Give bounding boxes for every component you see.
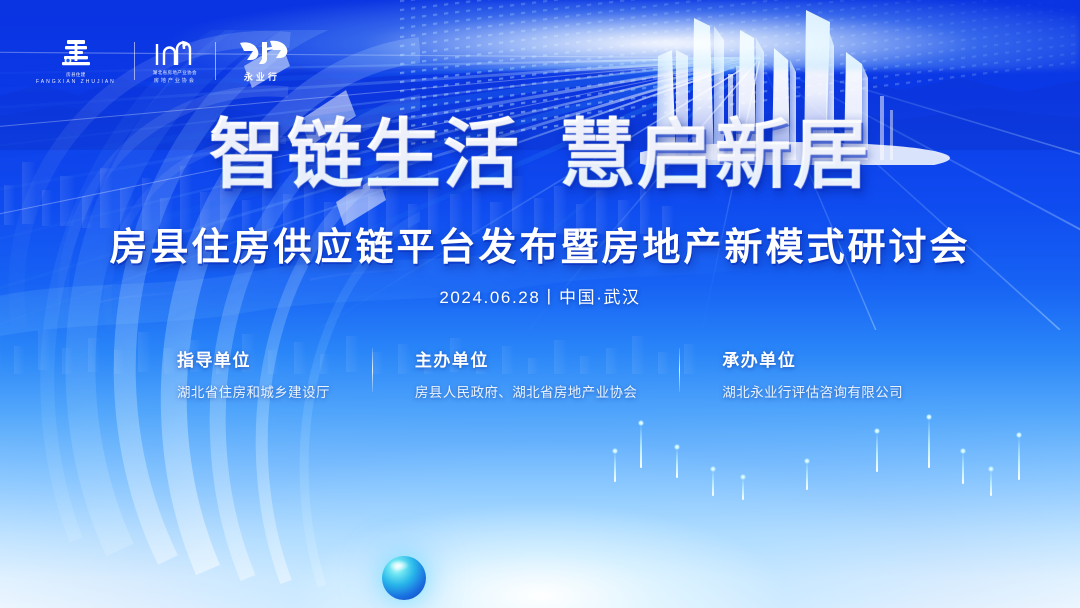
organization-name: 湖北永业行评估咨询有限公司 — [722, 381, 903, 401]
logo-bar: 房县住建 FANGXIAN ZHUJIAN 湖北省房地产业协会 房地产业协会 — [36, 34, 290, 88]
logo-caption-pinyin: 房地产业协会 — [154, 77, 196, 84]
logo-divider — [215, 42, 216, 80]
event-dateline: 2024.06.28丨中国·武汉 — [0, 283, 1080, 308]
organization-role: 承办单位 — [722, 346, 796, 371]
poster-canvas: 房县住建 FANGXIAN ZHUJIAN 湖北省房地产业协会 房地产业协会 — [0, 0, 1080, 608]
logo-divider — [134, 42, 135, 80]
logo-fangxian-zhujian: 房县住建 FANGXIAN ZHUJIAN — [36, 38, 116, 85]
organization-divider — [679, 348, 680, 392]
logo-caption-pinyin: FANGXIAN ZHUJIAN — [36, 79, 116, 85]
title-part-1: 智链生活 — [209, 113, 521, 198]
organization-name: 湖北省住房和城乡建设厅 — [177, 381, 330, 401]
organization-host: 主办单位 房县人民政府、湖北省房地产业协会 — [415, 346, 637, 401]
organization-divider — [372, 348, 373, 392]
hubei-association-mark — [153, 38, 197, 68]
logo-caption: 湖北省房地产业协会 — [153, 70, 197, 76]
organization-row: 指导单位 湖北省住房和城乡建设厅 主办单位 房县人民政府、湖北省房地产业协会 承… — [0, 346, 1080, 401]
fangxian-zhujian-mark — [59, 38, 93, 70]
yongyehang-mark — [234, 39, 290, 67]
organization-role: 指导单位 — [177, 346, 251, 371]
logo-hubei-real-estate-association: 湖北省房地产业协会 房地产业协会 — [153, 38, 197, 84]
organization-guidance: 指导单位 湖北省住房和城乡建设厅 — [177, 346, 330, 401]
organization-name: 房县人民政府、湖北省房地产业协会 — [415, 381, 637, 401]
organization-role: 主办单位 — [415, 346, 489, 371]
logo-caption: 房县住建 — [66, 72, 86, 78]
title-part-2: 慧启新居 — [559, 113, 871, 198]
page-subtitle: 房县住房供应链平台发布暨房地产新模式研讨会 — [0, 216, 1080, 271]
logo-yongyehang: 永业行 — [234, 39, 290, 83]
page-title: 智链生活慧启新居 — [0, 118, 1080, 194]
organization-organizer: 承办单位 湖北永业行评估咨询有限公司 — [722, 346, 903, 401]
poster-content: 房县住建 FANGXIAN ZHUJIAN 湖北省房地产业协会 房地产业协会 — [0, 0, 1080, 608]
logo-caption: 永业行 — [244, 70, 280, 83]
